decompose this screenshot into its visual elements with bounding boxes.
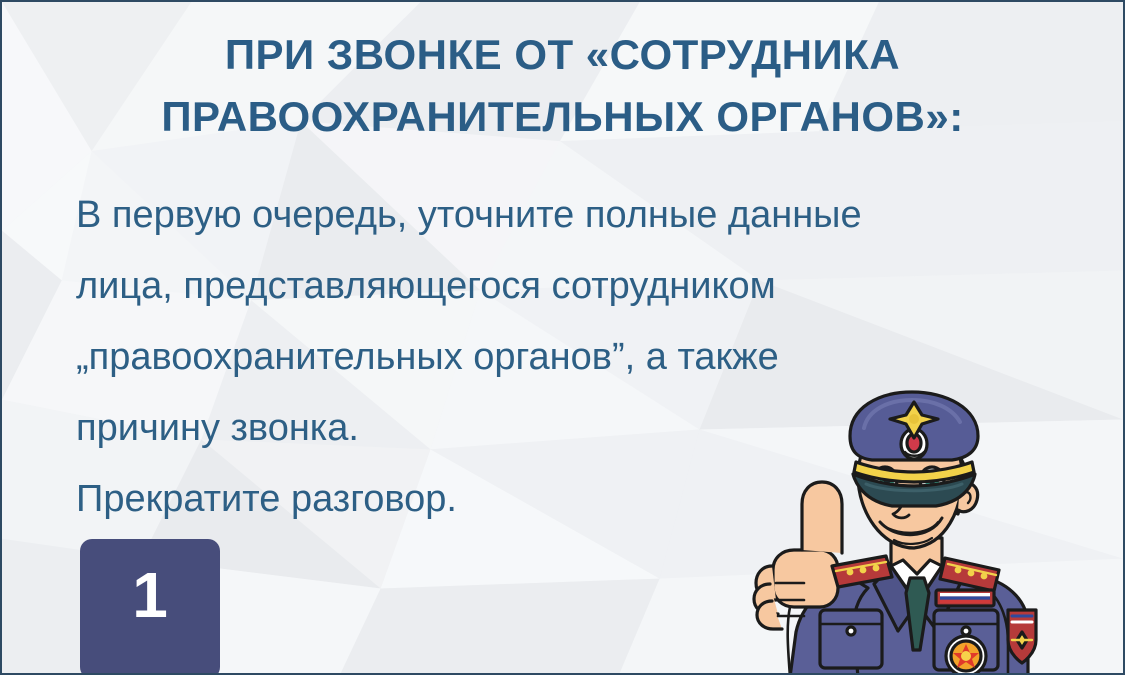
police-officer-svg [746,388,1125,675]
officer-shoulder-patch [1008,610,1036,663]
body-line-2: лица, представляющегося сотрудником [76,251,1076,322]
slide-title: ПРИ ЗВОНКЕ ОТ «СОТРУДНИКА ПРАВООХРАНИТЕЛ… [2,24,1123,148]
slide-root: ПРИ ЗВОНКЕ ОТ «СОТРУДНИКА ПРАВООХРАНИТЕЛ… [0,0,1125,675]
body-line-1: В первую очередь, уточните полные данные [76,180,1076,251]
step-number-badge: 1 [80,539,220,675]
police-officer-illustration [746,388,1125,675]
officer-pocket-left [820,610,882,668]
officer-cap [850,392,978,506]
title-line-2: ПРАВООХРАНИТЕЛЬНЫХ ОРГАНОВ»: [26,86,1099,148]
title-line-1: ПРИ ЗВОНКЕ ОТ «СОТРУДНИКА [26,24,1099,86]
body-line-3: „правоохранительных органов”, а также [76,322,1076,393]
officer-chest-badge [946,636,986,675]
step-number-value: 1 [132,563,168,627]
officer-ribbon-bar [936,590,994,606]
